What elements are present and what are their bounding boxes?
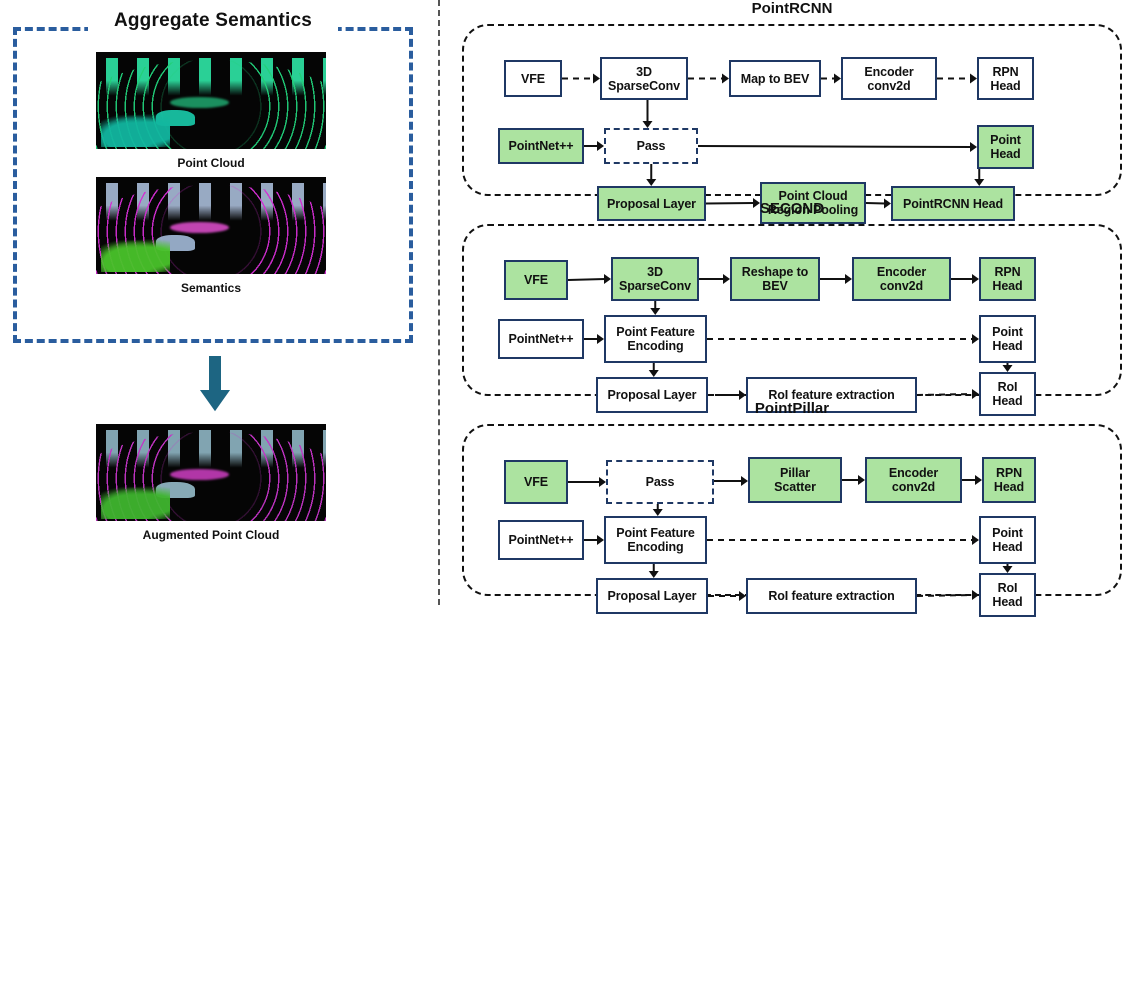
node-label: Reshape toBEV: [740, 265, 810, 293]
node-second-reshapebev[interactable]: Reshape toBEV: [730, 257, 820, 301]
node-label: 3DSparseConv: [606, 65, 682, 93]
node-label: PointHead: [990, 526, 1025, 554]
node-label: Encoderconv2d: [862, 65, 915, 93]
node-label: PointHead: [990, 325, 1025, 353]
node-label: Point FeatureEncoding: [614, 526, 697, 554]
node-second-pfe[interactable]: Point FeatureEncoding: [604, 315, 707, 363]
node-pointrcnn-pointnet[interactable]: PointNet++: [498, 128, 584, 164]
node-pointpillar-proposal[interactable]: Proposal Layer: [596, 578, 708, 614]
node-label: PointNet++: [507, 332, 576, 346]
diagram-pointrcnn: PointRCNNVFE3DSparseConvMap to BEVEncode…: [444, 0, 1140, 200]
node-pointpillar-pillarscatter[interactable]: PillarScatter: [748, 457, 842, 503]
point-cloud-figure: Point Cloud: [96, 52, 326, 170]
augmented-point-cloud-figure: Augmented Point Cloud: [96, 424, 326, 542]
node-label: RPNHead: [992, 466, 1026, 494]
node-second-rpnhead[interactable]: RPNHead: [979, 257, 1036, 301]
node-label: PointNet++: [507, 139, 576, 153]
node-label: Pass: [635, 139, 668, 153]
node-label: RPNHead: [990, 265, 1024, 293]
node-pointrcnn-pointhead[interactable]: PointHead: [977, 125, 1034, 169]
semantics-caption: Semantics: [96, 281, 326, 295]
aggregate-semantics-title: Aggregate Semantics: [88, 7, 338, 35]
augmented-point-cloud-caption: Augmented Point Cloud: [96, 528, 326, 542]
node-label: Proposal Layer: [606, 589, 699, 603]
node-label: PillarScatter: [772, 466, 818, 494]
diagram-second: SECONDVFE3DSparseConvReshape toBEVEncode…: [444, 200, 1140, 400]
node-label: 3DSparseConv: [617, 265, 693, 293]
left-panel: Aggregate Semantics Point Cloud: [0, 0, 440, 605]
diagram-frame-second: [462, 224, 1122, 396]
diagram-title-pointpillar: PointPillar: [444, 400, 1140, 417]
node-pointpillar-rpnhead[interactable]: RPNHead: [982, 457, 1036, 503]
node-second-pointhead[interactable]: PointHead: [979, 315, 1036, 363]
node-second-pointnet[interactable]: PointNet++: [498, 319, 584, 359]
diagram-frame-pointpillar: [462, 424, 1122, 596]
node-label: PointNet++: [507, 533, 576, 547]
node-label: VFE: [519, 72, 547, 86]
node-label: VFE: [522, 273, 550, 287]
node-pointpillar-pointhead[interactable]: PointHead: [979, 516, 1036, 564]
augmented-point-cloud-image: [96, 424, 326, 521]
figure-root: Aggregate Semantics Point Cloud: [0, 0, 1140, 605]
point-cloud-image: [96, 52, 326, 149]
node-pointpillar-roifeat[interactable]: RoI feature extraction: [746, 578, 917, 614]
node-pointrcnn-rpnhead[interactable]: RPNHead: [977, 57, 1034, 100]
diagram-title-second: SECOND: [444, 200, 1140, 217]
node-second-encoder[interactable]: Encoderconv2d: [852, 257, 951, 301]
node-label: VFE: [522, 475, 550, 489]
node-label: Pass: [644, 475, 677, 489]
panel-divider: [438, 0, 440, 605]
node-label: Encoderconv2d: [875, 265, 928, 293]
node-pointpillar-pfe[interactable]: Point FeatureEncoding: [604, 516, 707, 564]
node-pointrcnn-pass[interactable]: Pass: [604, 128, 698, 164]
node-pointpillar-encoder[interactable]: Encoderconv2d: [865, 457, 962, 503]
node-second-vfe[interactable]: VFE: [504, 260, 568, 300]
node-label: Encoderconv2d: [887, 466, 940, 494]
diagram-pointpillar: PointPillarVFEPassPillarScatterEncoderco…: [444, 400, 1140, 600]
node-label: Map to BEV: [739, 72, 811, 86]
node-pointpillar-roihead[interactable]: RoIHead: [979, 573, 1036, 617]
node-pointrcnn-vfe[interactable]: VFE: [504, 60, 562, 97]
point-cloud-caption: Point Cloud: [96, 156, 326, 170]
node-pointpillar-pass[interactable]: Pass: [606, 460, 714, 504]
semantics-figure: Semantics: [96, 177, 326, 295]
aggregate-arrow: [196, 355, 234, 417]
node-label: PointHead: [988, 133, 1023, 161]
node-pointrcnn-encoder[interactable]: Encoderconv2d: [841, 57, 937, 100]
node-pointrcnn-maptobev[interactable]: Map to BEV: [729, 60, 821, 97]
node-label: Point FeatureEncoding: [614, 325, 697, 353]
right-panel: PointRCNNVFE3DSparseConvMap to BEVEncode…: [444, 0, 1140, 605]
diagram-frame-pointrcnn: [462, 24, 1122, 196]
node-second-sparseconv[interactable]: 3DSparseConv: [611, 257, 699, 301]
node-pointpillar-vfe[interactable]: VFE: [504, 460, 568, 504]
diagram-title-pointrcnn: PointRCNN: [444, 0, 1140, 17]
node-pointrcnn-sparseconv[interactable]: 3DSparseConv: [600, 57, 688, 100]
node-pointpillar-pointnet[interactable]: PointNet++: [498, 520, 584, 560]
node-label: RoI feature extraction: [766, 589, 896, 603]
node-label: RPNHead: [988, 65, 1022, 93]
semantics-image: [96, 177, 326, 274]
